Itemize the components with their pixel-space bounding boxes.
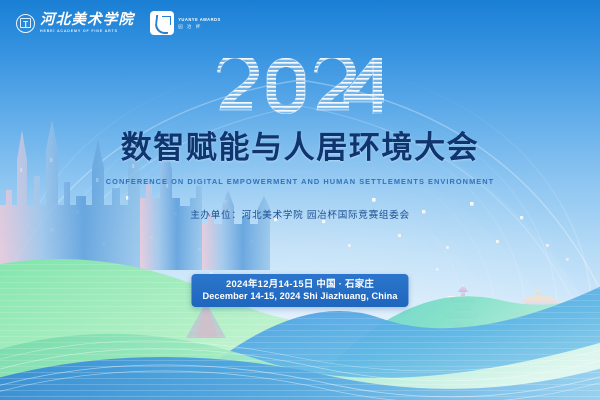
year-2024-graphic [216, 58, 384, 114]
competition-name-en: YUANYE AWARDS [178, 17, 221, 22]
competition-logo[interactable]: YUANYE AWARDS 园 冶 杯 [150, 11, 221, 35]
academy-name-cn: 河北美术学院 [40, 13, 134, 28]
date-cn: 2024年12月14-15日 中国 · 石家庄 [202, 278, 397, 290]
year-heading [0, 58, 600, 119]
poster-title-cn: 数智赋能与人居环境大会 [0, 129, 600, 167]
date-en: December 14-15, 2024 Shi Jiazhuang, Chin… [202, 290, 397, 302]
header-logos: 河北美术学院 HEBEI ACADEMY OF FINE ARTS YUANYE… [16, 11, 221, 35]
yuanye-mark-icon [150, 11, 174, 35]
academy-logo[interactable]: 河北美术学院 HEBEI ACADEMY OF FINE ARTS [16, 13, 134, 34]
poster-title-en: CONFERENCE ON DIGITAL EMPOWERMENT AND HU… [0, 177, 600, 187]
date-location-badge: 2024年12月14-15日 中国 · 石家庄 December 14-15, … [191, 274, 408, 307]
conference-poster: 河北美术学院 HEBEI ACADEMY OF FINE ARTS YUANYE… [0, 0, 600, 400]
academy-name-en: HEBEI ACADEMY OF FINE ARTS [40, 29, 134, 34]
academy-seal-icon [16, 14, 35, 33]
competition-name-cn: 园 冶 杯 [178, 24, 221, 29]
organizer-line: 主办单位：河北美术学院 园冶杯国际竞赛组委会 [0, 209, 600, 222]
